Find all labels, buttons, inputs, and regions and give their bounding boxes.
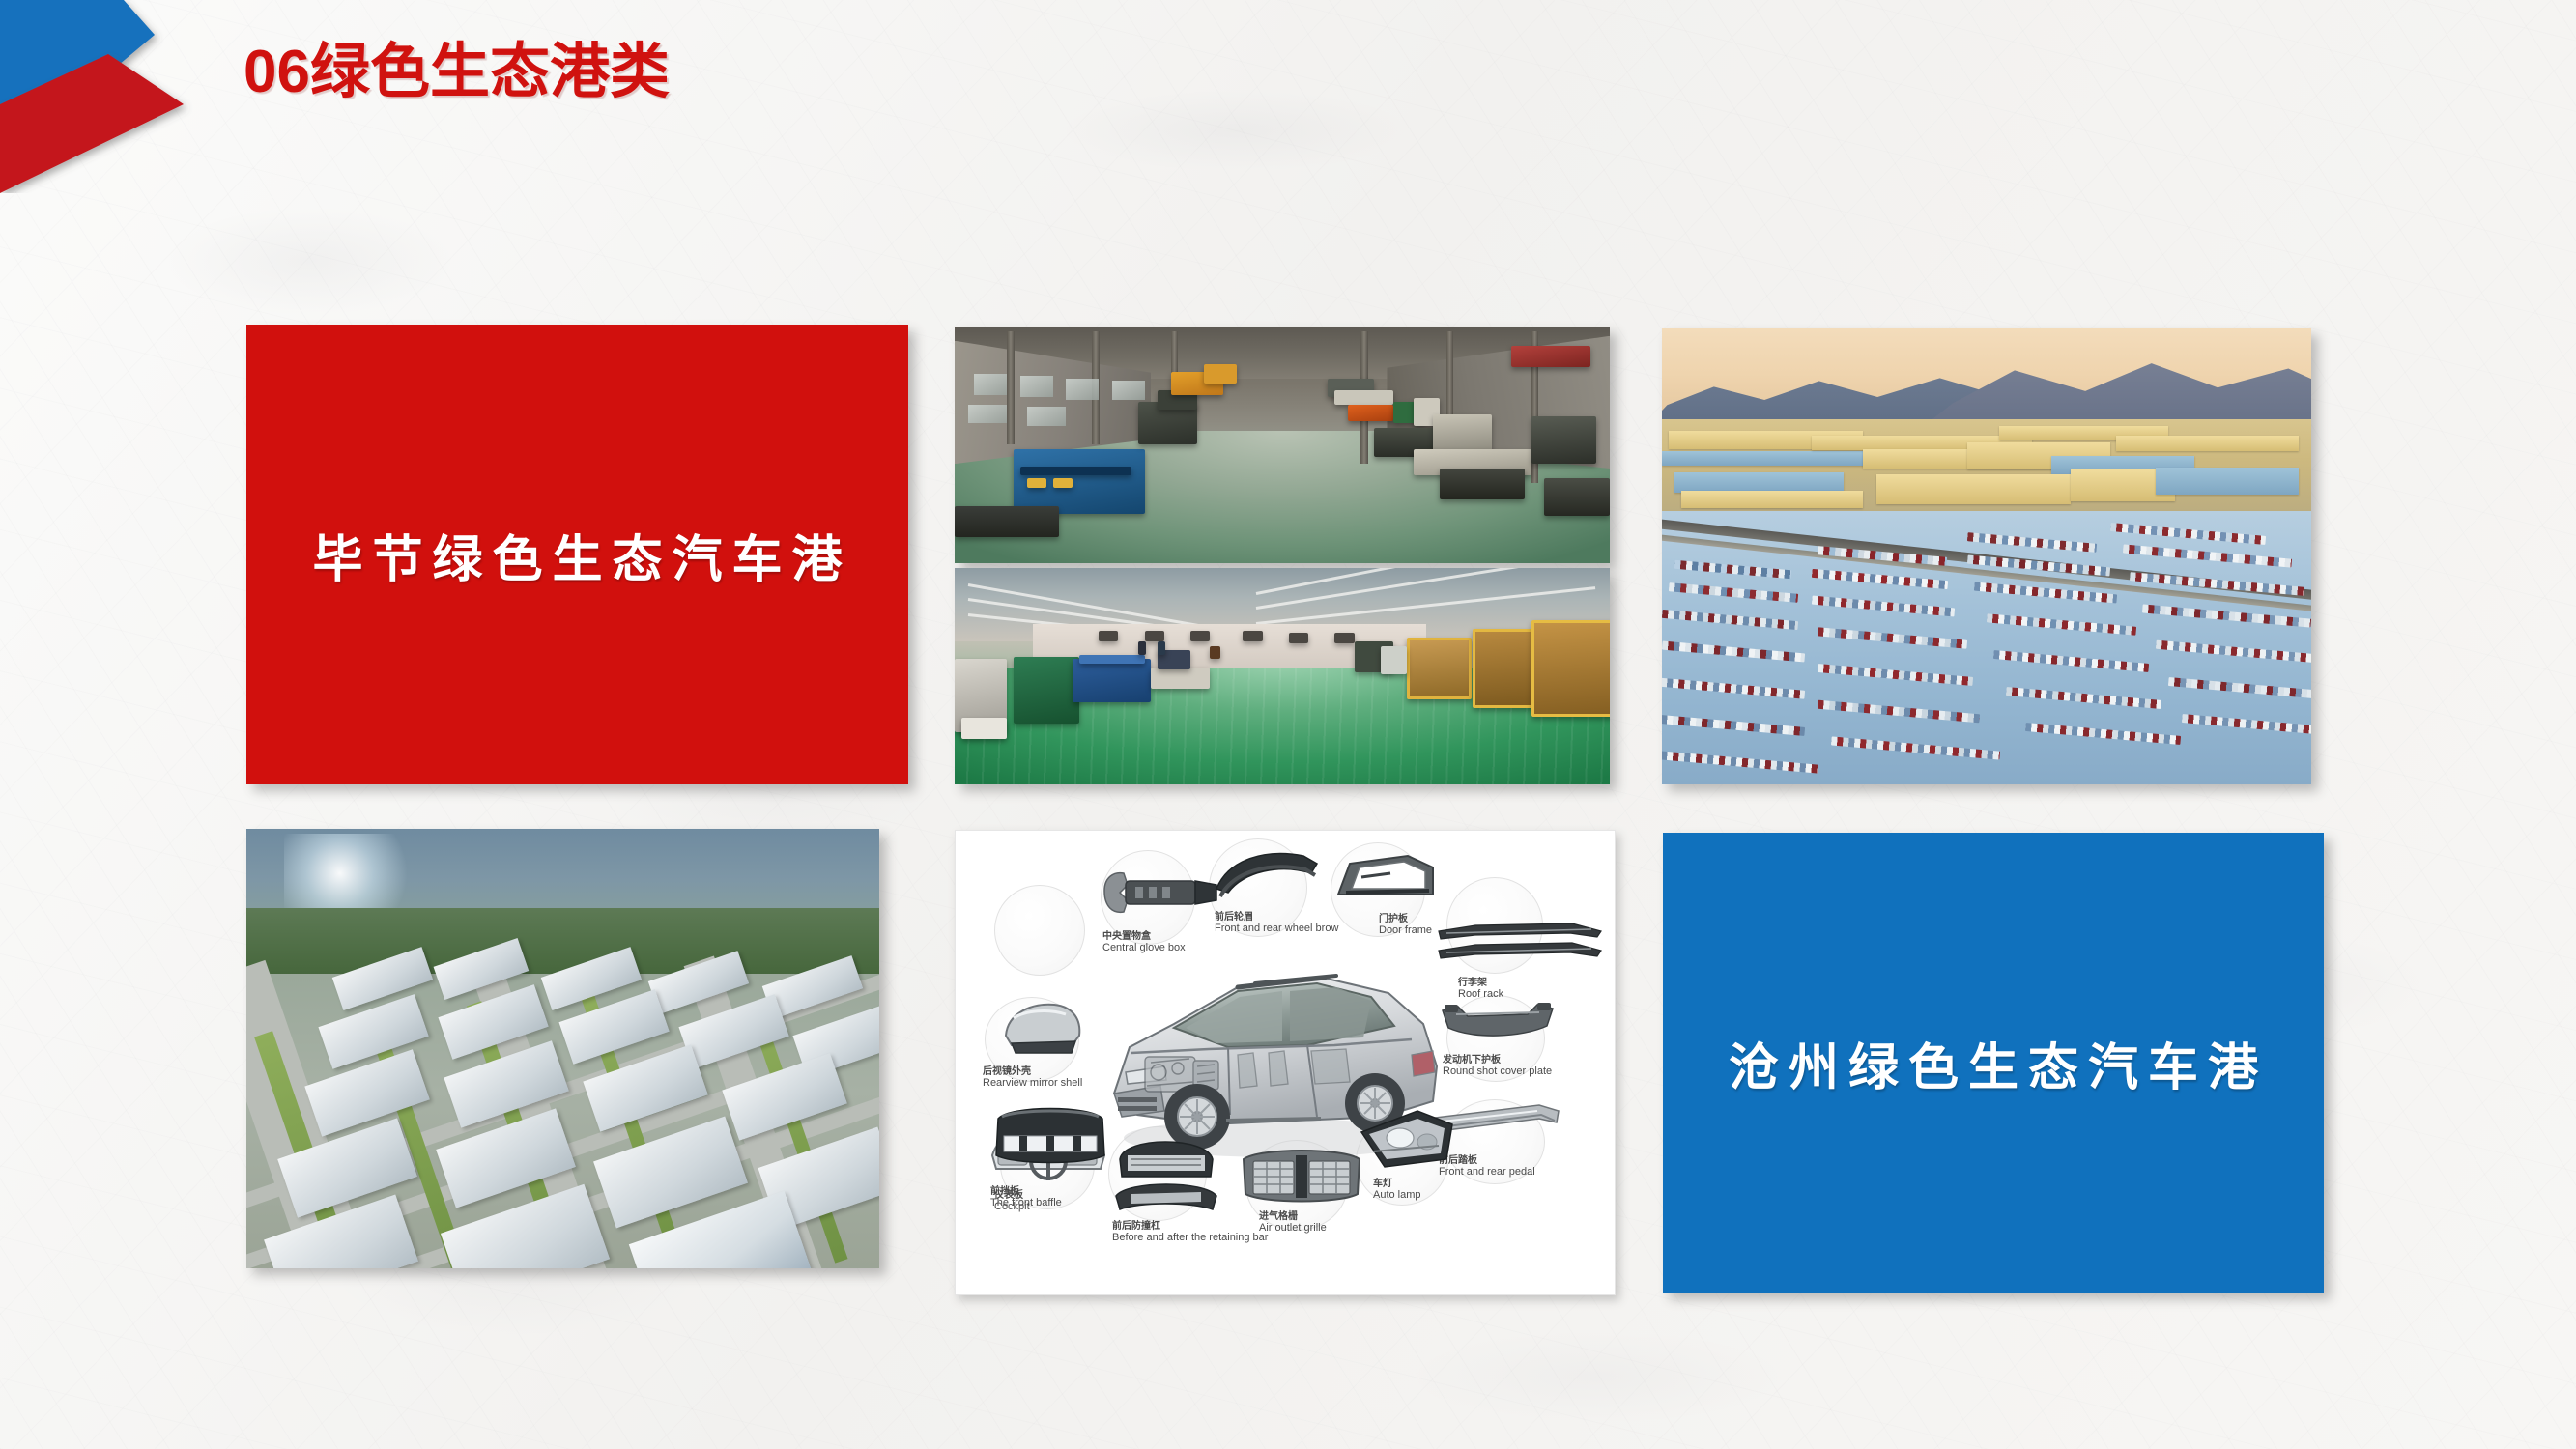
round-shot-cover-plate-part bbox=[1439, 1001, 1557, 1047]
label-air-outlet-grille: 进气格栅 Air outlet grille bbox=[1259, 1211, 1327, 1235]
central-glove-box-part bbox=[1101, 867, 1226, 918]
front-baffle-part bbox=[990, 1101, 1110, 1175]
retaining-bar-part bbox=[1110, 1126, 1224, 1217]
label-auto-lamp: 车灯 Auto lamp bbox=[1373, 1179, 1421, 1202]
cangzhou-label-text: 沧州绿色生态汽车港 bbox=[1719, 1027, 2268, 1099]
label-roof-rack: 行李架 Roof rack bbox=[1458, 978, 1503, 1001]
label-front-baffle: 前挡板 The front baffle bbox=[990, 1186, 1062, 1209]
label-retaining-bar: 前后防撞杠 Before and after the retaining bar bbox=[1112, 1221, 1268, 1244]
aerial-car-storage-lot-photo bbox=[1662, 328, 2311, 784]
slide-root: 06绿色生态港类 毕节绿色生态汽车港 bbox=[0, 0, 2576, 1449]
factory-machinery-hall-photo bbox=[955, 327, 1610, 563]
page-title: 06绿色生态港类 bbox=[243, 41, 670, 103]
rearview-mirror-shell-part bbox=[998, 997, 1087, 1059]
factory-green-floor-photo bbox=[955, 568, 1610, 784]
label-central-glove-box: 中央置物盒 Central glove box bbox=[1102, 931, 1186, 954]
cangzhou-label-tile: 沧州绿色生态汽车港 bbox=[1663, 833, 2324, 1293]
bijie-label-text: 毕节绿色生态汽车港 bbox=[302, 519, 851, 591]
label-front-rear-wheel-brow: 前后轮眉 Front and rear wheel brow bbox=[1215, 912, 1338, 935]
auto-lamp-part bbox=[1358, 1107, 1458, 1177]
air-outlet-grille-part bbox=[1240, 1144, 1363, 1207]
door-frame-part bbox=[1332, 848, 1445, 908]
label-door-frame: 门护板 Door frame bbox=[1379, 914, 1432, 937]
label-rearview-mirror-shell: 后视镜外壳 Rearview mirror shell bbox=[983, 1066, 1082, 1090]
bijie-label-tile: 毕节绿色生态汽车港 bbox=[246, 325, 908, 784]
label-round-shot-cover-plate: 发动机下护板 Round shot cover plate bbox=[1443, 1055, 1552, 1078]
corner-decoration bbox=[0, 0, 251, 193]
roof-rack-part bbox=[1437, 914, 1605, 970]
front-rear-wheel-brow-part bbox=[1211, 844, 1325, 900]
car-parts-diagram: 后视镜外壳 Rearview mirror shell 中央置物盒 Centra… bbox=[955, 830, 1616, 1295]
aerial-industrial-park-photo bbox=[246, 829, 879, 1268]
